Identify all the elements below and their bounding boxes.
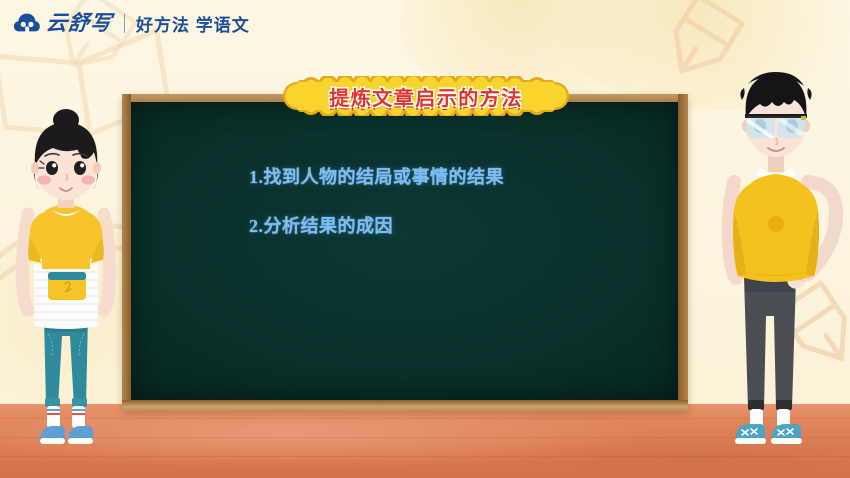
slide-canvas: 云舒写 好方法 学语文 1.找到人物的结局或事情的结果 2.分析结果的成因 bbox=[0, 0, 850, 478]
slide-title: 提炼文章启示的方法 bbox=[281, 76, 571, 116]
boy-student bbox=[704, 56, 850, 478]
boy-head bbox=[740, 72, 811, 157]
girl-head bbox=[31, 109, 101, 200]
boy-sweater-emblem bbox=[768, 216, 784, 232]
girl-eye bbox=[74, 161, 86, 175]
board-line-2: 2.分析结果的成因 bbox=[249, 217, 678, 235]
boy-sweater bbox=[733, 174, 819, 282]
board-line-1: 1.找到人物的结局或事情的结果 bbox=[249, 168, 678, 186]
header-divider bbox=[124, 14, 125, 33]
brand-tagline: 好方法 学语文 bbox=[136, 11, 250, 36]
blackboard-frame-right bbox=[678, 94, 688, 411]
boy-pants bbox=[744, 278, 796, 410]
girl-shoe bbox=[68, 426, 93, 444]
boy-shoe bbox=[771, 424, 802, 444]
girl-eye bbox=[46, 161, 58, 175]
brand-name: 云舒写 bbox=[45, 13, 113, 34]
cloud-logo-icon bbox=[14, 13, 40, 33]
blackboard: 1.找到人物的结局或事情的结果 2.分析结果的成因 bbox=[122, 94, 688, 411]
girl-pants bbox=[44, 318, 88, 407]
girl-shirt bbox=[28, 204, 104, 269]
blackboard-content: 1.找到人物的结局或事情的结果 2.分析结果的成因 bbox=[131, 102, 678, 400]
blackboard-frame-bottom bbox=[122, 400, 688, 411]
header-bar: 云舒写 好方法 学语文 bbox=[0, 0, 850, 46]
title-banner: 提炼文章启示的方法 bbox=[281, 76, 571, 116]
girl-waist-bag bbox=[48, 272, 86, 300]
girl-shoe bbox=[40, 426, 65, 444]
boy-shoe bbox=[735, 424, 766, 444]
girl-arm bbox=[23, 214, 28, 310]
girl-arm bbox=[104, 214, 109, 310]
girl-student bbox=[4, 104, 128, 478]
